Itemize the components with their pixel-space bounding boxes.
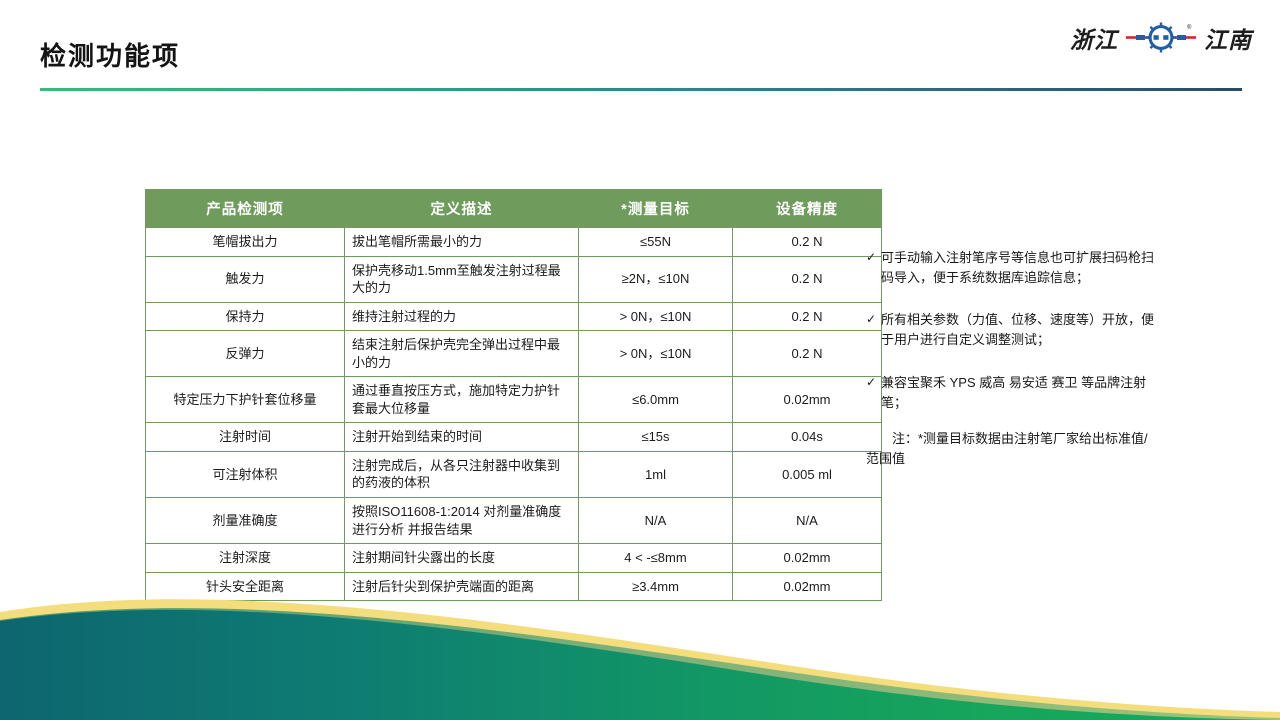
cell-device-accuracy: N/A: [733, 498, 882, 544]
cell-product-item: 特定压力下护针套位移量: [146, 377, 345, 423]
table-row: 注射深度 注射期间针尖露出的长度 4 < -≤8mm 0.02mm: [146, 544, 882, 573]
cell-measure-target: > 0N，≤10N: [579, 331, 733, 377]
cell-measure-target: ≥3.4mm: [579, 572, 733, 601]
check-icon: ✓: [866, 310, 881, 329]
cell-product-item: 剂量准确度: [146, 498, 345, 544]
table-row: 触发力 保护壳移动1.5mm至触发注射过程最大的力 ≥2N，≤10N 0.2 N: [146, 256, 882, 302]
cell-measure-target: 4 < -≤8mm: [579, 544, 733, 573]
cell-device-accuracy: 0.2 N: [733, 302, 882, 331]
cell-definition: 通过垂直按压方式，施加特定力护针套最大位移量: [345, 377, 579, 423]
cell-measure-target: ≤15s: [579, 423, 733, 452]
table-row: 反弹力 结束注射后保护壳完全弹出过程中最小的力 > 0N，≤10N 0.2 N: [146, 331, 882, 377]
cell-device-accuracy: 0.2 N: [733, 256, 882, 302]
gear-emblem-icon: ®: [1124, 21, 1198, 55]
cell-device-accuracy: 0.005 ml: [733, 451, 882, 497]
list-item: ✓ 兼容宝聚禾 YPS 威高 易安适 赛卫 等品牌注射笔；: [866, 373, 1156, 413]
cell-definition: 维持注射过程的力: [345, 302, 579, 331]
cell-product-item: 注射时间: [146, 423, 345, 452]
table-body: 笔帽拔出力 拔出笔帽所需最小的力 ≤55N 0.2 N 触发力 保护壳移动1.5…: [146, 228, 882, 601]
cell-measure-target: ≤6.0mm: [579, 377, 733, 423]
column-header-measure-target: *测量目标: [579, 190, 733, 228]
cell-definition: 注射完成后，从各只注射器中收集到的药液的体积: [345, 451, 579, 497]
wave-main-band: [0, 610, 1280, 720]
note-text: 可手动输入注射笔序号等信息也可扩展扫码枪扫码导入，便于系统数据库追踪信息；: [881, 248, 1156, 288]
page-title: 检测功能项: [40, 43, 180, 69]
svg-text:®: ®: [1187, 24, 1192, 31]
cell-device-accuracy: 0.04s: [733, 423, 882, 452]
cell-definition: 结束注射后保护壳完全弹出过程中最小的力: [345, 331, 579, 377]
list-item: ✓ 所有相关参数（力值、位移、速度等）开放，便于用户进行自定义调整测试；: [866, 310, 1156, 350]
list-item: ✓ 可手动输入注射笔序号等信息也可扩展扫码枪扫码导入，便于系统数据库追踪信息；: [866, 248, 1156, 288]
cell-definition: 注射开始到结束的时间: [345, 423, 579, 452]
check-icon: ✓: [866, 248, 881, 267]
company-logo: 浙江: [1070, 18, 1252, 58]
wave-yellow-band: [0, 599, 1280, 720]
cell-definition: 注射期间针尖露出的长度: [345, 544, 579, 573]
cell-product-item: 注射深度: [146, 544, 345, 573]
wave-mid-band: [0, 608, 1280, 720]
table-header-row: 产品检测项 定义描述 *测量目标 设备精度: [146, 190, 882, 228]
cell-definition: 按照ISO11608-1:2014 对剂量准确度进行分析 并报告结果: [345, 498, 579, 544]
cell-device-accuracy: 0.02mm: [733, 544, 882, 573]
cell-measure-target: N/A: [579, 498, 733, 544]
cell-device-accuracy: 0.2 N: [733, 228, 882, 257]
cell-device-accuracy: 0.2 N: [733, 331, 882, 377]
cell-measure-target: ≤55N: [579, 228, 733, 257]
cell-product-item: 可注射体积: [146, 451, 345, 497]
cell-device-accuracy: 0.02mm: [733, 377, 882, 423]
footnote-text: 注：*测量目标数据由注射笔厂家给出标准值/范围值: [866, 429, 1156, 469]
logo-right-text: 江南: [1204, 21, 1252, 55]
table-row: 特定压力下护针套位移量 通过垂直按压方式，施加特定力护针套最大位移量 ≤6.0m…: [146, 377, 882, 423]
cell-definition: 注射后针尖到保护壳端面的距离: [345, 572, 579, 601]
cell-product-item: 触发力: [146, 256, 345, 302]
logo-left-text: 浙江: [1070, 21, 1118, 55]
cell-product-item: 保持力: [146, 302, 345, 331]
cell-product-item: 反弹力: [146, 331, 345, 377]
detection-items-table: 产品检测项 定义描述 *测量目标 设备精度 笔帽拔出力 拔出笔帽所需最小的力 ≤…: [145, 189, 882, 601]
check-icon: ✓: [866, 373, 881, 392]
cell-device-accuracy: 0.02mm: [733, 572, 882, 601]
table-row: 针头安全距离 注射后针尖到保护壳端面的距离 ≥3.4mm 0.02mm: [146, 572, 882, 601]
table-row: 笔帽拔出力 拔出笔帽所需最小的力 ≤55N 0.2 N: [146, 228, 882, 257]
feature-notes-list: ✓ 可手动输入注射笔序号等信息也可扩展扫码枪扫码导入，便于系统数据库追踪信息； …: [866, 248, 1156, 469]
cell-definition: 拔出笔帽所需最小的力: [345, 228, 579, 257]
column-header-definition: 定义描述: [345, 190, 579, 228]
table-row: 可注射体积 注射完成后，从各只注射器中收集到的药液的体积 1ml 0.005 m…: [146, 451, 882, 497]
table-row: 剂量准确度 按照ISO11608-1:2014 对剂量准确度进行分析 并报告结果…: [146, 498, 882, 544]
cell-measure-target: > 0N，≤10N: [579, 302, 733, 331]
table-row: 保持力 维持注射过程的力 > 0N，≤10N 0.2 N: [146, 302, 882, 331]
note-text: 所有相关参数（力值、位移、速度等）开放，便于用户进行自定义调整测试；: [881, 310, 1156, 350]
table-row: 注射时间 注射开始到结束的时间 ≤15s 0.04s: [146, 423, 882, 452]
column-header-device-accuracy: 设备精度: [733, 190, 882, 228]
cell-product-item: 笔帽拔出力: [146, 228, 345, 257]
cell-measure-target: ≥2N，≤10N: [579, 256, 733, 302]
cell-definition: 保护壳移动1.5mm至触发注射过程最大的力: [345, 256, 579, 302]
column-header-product-item: 产品检测项: [146, 190, 345, 228]
note-text: 兼容宝聚禾 YPS 威高 易安适 赛卫 等品牌注射笔；: [881, 373, 1156, 413]
cell-measure-target: 1ml: [579, 451, 733, 497]
cell-product-item: 针头安全距离: [146, 572, 345, 601]
title-divider: [40, 88, 1242, 91]
decorative-wave: [0, 590, 1280, 720]
